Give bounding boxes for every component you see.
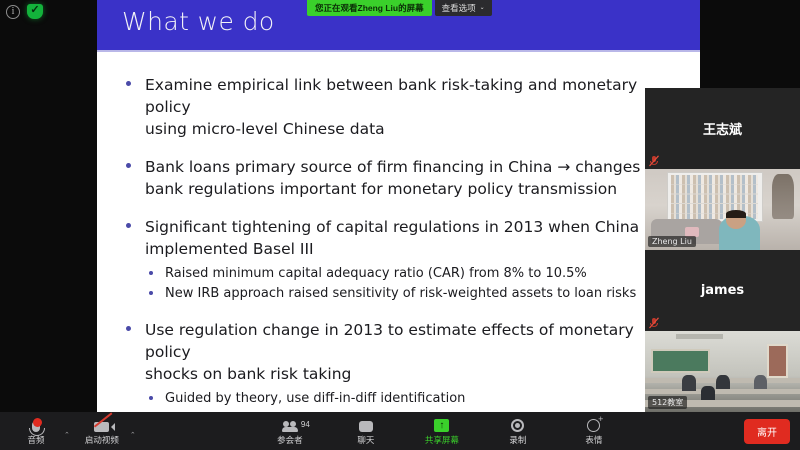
chat-bubble-icon [359,417,373,432]
bullet-line: implemented Basel III [145,238,682,260]
bullet-line: using micro-level Chinese data [145,118,682,140]
zoom-meeting-window: i 您正在观看Zheng Liu的屏幕 查看选项 ⌄ What we do Ex… [0,0,800,450]
video-options-chevron-icon[interactable]: ⌃ [130,431,136,439]
reactions-button[interactable]: 表情 [568,417,620,446]
share-screen-button[interactable]: 共享屏幕 [416,417,468,446]
slide-bullet: Significant tightening of capital regula… [123,216,682,303]
status-icon-group: i [6,4,43,19]
toolbar-left-group: 音频 ⌃ 启动视频 ⌃ [10,417,140,446]
shared-screen-slide: What we do Examine empirical link betwee… [97,0,700,412]
info-icon[interactable]: i [6,5,20,19]
participants-button[interactable]: 94 参会者 [264,417,316,446]
video-tile-classroom[interactable]: 512教室 [645,331,800,412]
audio-options-chevron-icon[interactable]: ⌃ [64,431,70,439]
participant-video-strip[interactable]: 王志斌 Zheng Liu james [645,88,800,412]
people-icon: 94 [282,417,298,432]
view-options-button[interactable]: 查看选项 ⌄ [435,0,492,16]
camera-off-icon [94,417,109,432]
bullet-line: Bank loans primary source of firm financ… [145,156,682,178]
video-tile-active-speaker[interactable]: Zheng Liu [645,169,800,250]
slide-sub-bullet-list: Guided by theory, use diff-in-diff ident… [145,390,682,412]
slide-bullet: Use regulation change in 2013 to estimat… [123,319,682,412]
screen-share-banner: 您正在观看Zheng Liu的屏幕 查看选项 ⌄ [307,0,492,16]
bullet-dot-icon [126,326,131,331]
slide-title: What we do [122,7,275,36]
bullet-dot-icon [149,291,153,295]
chat-label: 聊天 [357,434,374,446]
viewing-screen-label: 您正在观看Zheng Liu的屏幕 [307,0,432,16]
slide-sub-bullet: Raised minimum capital adequacy ratio (C… [145,265,682,283]
participant-name: 王志斌 [703,119,742,138]
chat-button[interactable]: 聊天 [340,417,392,446]
bullet-dot-icon [149,396,153,400]
sub-bullet-line: New IRB approach raised sensitivity of r… [165,285,682,303]
audio-button[interactable]: 音频 [10,417,62,446]
share-screen-label: 共享屏幕 [425,434,459,446]
meeting-toolbar: 音频 ⌃ 启动视频 ⌃ 94 参会者 聊天 [0,412,800,450]
slide-bullet-list: Examine empirical link between bank risk… [123,74,682,412]
sub-bullet-line: Guided by theory, use diff-in-diff ident… [165,390,682,408]
participant-name-label: 512教室 [648,396,687,409]
audio-alert-badge [33,418,42,427]
mic-muted-icon [649,154,659,166]
bullet-line: Use regulation change in 2013 to estimat… [145,319,682,363]
slide-sub-bullet: Guided by theory, use diff-in-diff ident… [145,390,682,408]
view-options-label: 查看选项 [442,0,476,16]
participant-name: james [701,283,744,298]
reactions-icon [587,417,600,432]
slide-sub-bullet: New IRB approach raised sensitivity of r… [145,285,682,303]
bullet-line: Significant tightening of capital regula… [145,216,682,238]
record-button[interactable]: 录制 [492,417,544,446]
slide-sub-bullet-list: Raised minimum capital adequacy ratio (C… [145,265,682,303]
slide-bullet: Bank loans primary source of firm financ… [123,156,682,200]
bullet-dot-icon [126,81,131,86]
toolbar-right-group: 离开 [744,419,790,444]
share-screen-icon [434,417,449,432]
record-label: 录制 [509,434,526,446]
bullet-dot-icon [126,223,131,228]
bullet-line: Examine empirical link between bank risk… [145,74,682,118]
microphone-icon [32,417,40,432]
video-tile-name-only[interactable]: 王志斌 [645,88,800,169]
bullet-dot-icon [126,163,131,168]
participants-label: 参会者 [277,434,303,446]
mic-muted-icon [649,316,659,328]
toolbar-center-group: 94 参会者 聊天 共享屏幕 录制 表情 [264,417,620,446]
bullet-line: shocks on bank risk taking [145,363,682,385]
bullet-line: bank regulations important for monetary … [145,178,682,200]
participant-count: 94 [301,420,310,429]
start-video-button[interactable]: 启动视频 [76,417,128,446]
reactions-label: 表情 [585,434,602,446]
leave-meeting-button[interactable]: 离开 [744,419,790,444]
record-icon [511,417,524,432]
slide-bullet: Examine empirical link between bank risk… [123,74,682,140]
sub-bullet-line: Raised minimum capital adequacy ratio (C… [165,265,682,283]
shield-check-icon[interactable] [27,4,43,19]
bullet-dot-icon [149,271,153,275]
start-video-label: 启动视频 [85,434,119,446]
participant-name-label: Zheng Liu [648,236,696,247]
chevron-down-icon: ⌄ [480,0,485,16]
video-tile-name-only[interactable]: james [645,250,800,331]
slide-body: Examine empirical link between bank risk… [97,52,700,412]
